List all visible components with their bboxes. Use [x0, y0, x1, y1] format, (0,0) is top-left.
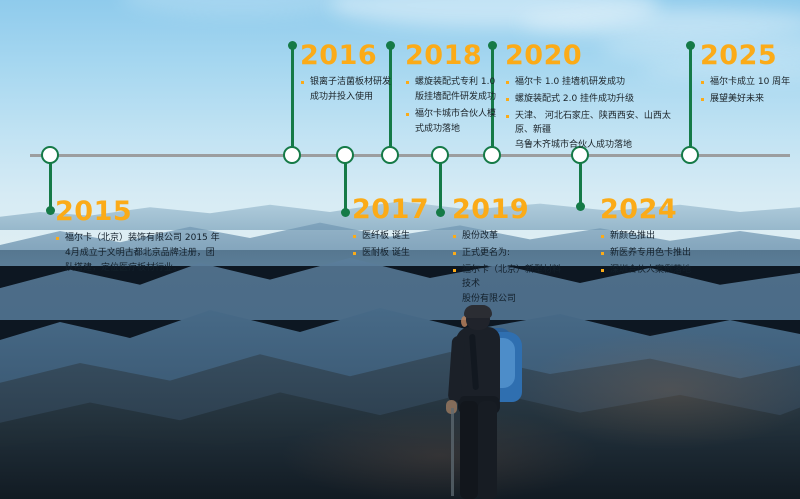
timeline-stem-cap-2016: [288, 41, 297, 50]
timeline-node-2018[interactable]: [381, 146, 399, 164]
timeline-bullet-list-2024: 新颜色推出新医养专用色卡推出深圳合伙人案例落地: [600, 230, 730, 278]
timeline-bullet-list-2020: 福尔卡 1.0 挂墙机研发成功螺旋装配式 2.0 挂件成功升级天津、 河北石家庄…: [505, 76, 685, 153]
timeline-bullet: 新颜色推出: [600, 230, 730, 244]
timeline-entry-2019[interactable]: 2019股份改革正式更名为:福尔卡（北京）新型材料技术股份有限公司: [452, 196, 562, 310]
timeline-bullet-list-2018: 螺旋装配式专利 1.0版挂墙配件研发成功福尔卡城市合伙人模式成功落地: [405, 76, 505, 137]
timeline-stem-cap-2017: [341, 208, 350, 217]
timeline-node-2019[interactable]: [431, 146, 449, 164]
timeline-entry-2025[interactable]: 2025福尔卡成立 10 周年展望美好未来: [700, 42, 800, 110]
timeline-year-label-2019: 2019: [452, 196, 562, 223]
timeline-year-label-2018: 2018: [405, 42, 505, 69]
timeline-stem-cap-2015: [46, 206, 55, 215]
timeline-bullet: 深圳合伙人案例落地: [600, 264, 730, 278]
timeline-stem-2025: [689, 45, 692, 155]
timeline-bullet-list-2019: 股份改革正式更名为:福尔卡（北京）新型材料技术股份有限公司: [452, 230, 562, 307]
timeline-year-label-2015: 2015: [55, 198, 230, 225]
timeline-bullet: 股份有限公司: [452, 293, 562, 307]
timeline-stem-2016: [291, 45, 294, 155]
timeline-bullet: 福尔卡（北京）装饰有限公司 2015 年: [55, 232, 230, 246]
timeline-bullet: 福尔卡城市合伙人模: [405, 108, 505, 122]
timeline-bullet: 天津、 河北石家庄、陕西西安、山西太原、新疆: [505, 110, 685, 138]
timeline-bullet: 版挂墙配件研发成功: [405, 91, 505, 105]
timeline-bullet: 医纤板 诞生: [352, 230, 447, 244]
timeline-year-label-2016: 2016: [300, 42, 405, 69]
cloud: [520, 8, 800, 38]
timeline-node-2020[interactable]: [483, 146, 501, 164]
timeline-bullet: 正式更名为:: [452, 247, 562, 261]
timeline-bullet: 股份改革: [452, 230, 562, 244]
timeline-bullet: 乌鲁木齐城市合伙人成功落地: [505, 139, 685, 153]
infographic-stage: 2015福尔卡（北京）装饰有限公司 2015 年4月成立于文明古都北京品牌注册，…: [0, 0, 800, 499]
timeline-bullet: 式成功落地: [405, 123, 505, 137]
timeline-bullet: 螺旋装配式 2.0 挂件成功升级: [505, 93, 685, 107]
timeline-year-label-2017: 2017: [352, 196, 447, 223]
timeline-bullet: 医耐板 诞生: [352, 247, 447, 261]
timeline-entry-2018[interactable]: 2018螺旋装配式专利 1.0版挂墙配件研发成功福尔卡城市合伙人模式成功落地: [405, 42, 505, 140]
timeline-bullet-list-2025: 福尔卡成立 10 周年展望美好未来: [700, 76, 800, 107]
timeline-bullet-list-2016: 银离子洁菌板材研发成功并投入使用: [300, 76, 405, 105]
timeline-bullet-list-2015: 福尔卡（北京）装饰有限公司 2015 年4月成立于文明古都北京品牌注册，团队搭建…: [55, 232, 230, 276]
timeline-stem-cap-2025: [686, 41, 695, 50]
timeline-bullet: 队搭建，定位医疗板材行业。: [55, 262, 230, 276]
timeline-node-2016[interactable]: [283, 146, 301, 164]
timeline-year-label-2024: 2024: [600, 196, 730, 223]
timeline-year-label-2025: 2025: [700, 42, 800, 69]
timeline-bullet: 新医养专用色卡推出: [600, 247, 730, 261]
timeline-node-2015[interactable]: [41, 146, 59, 164]
timeline-entry-2024[interactable]: 2024新颜色推出新医养专用色卡推出深圳合伙人案例落地: [600, 196, 730, 281]
timeline-node-2017[interactable]: [336, 146, 354, 164]
hiker-silhouette: [438, 308, 558, 499]
timeline-entry-2016[interactable]: 2016银离子洁菌板材研发成功并投入使用: [300, 42, 405, 108]
timeline-entry-2020[interactable]: 2020福尔卡 1.0 挂墙机研发成功螺旋装配式 2.0 挂件成功升级天津、 河…: [505, 42, 685, 156]
timeline-bullet: 4月成立于文明古都北京品牌注册，团: [55, 247, 230, 261]
timeline-bullet: 螺旋装配式专利 1.0: [405, 76, 505, 90]
timeline-bullet: 福尔卡 1.0 挂墙机研发成功: [505, 76, 685, 90]
timeline-entry-2017[interactable]: 2017医纤板 诞生医耐板 诞生: [352, 196, 447, 264]
timeline-bullet: 成功并投入使用: [300, 91, 405, 105]
timeline-year-label-2020: 2020: [505, 42, 685, 69]
timeline-bullet: 银离子洁菌板材研发: [300, 76, 405, 90]
timeline-bullet-list-2017: 医纤板 诞生医耐板 诞生: [352, 230, 447, 261]
timeline-bullet: 展望美好未来: [700, 93, 800, 107]
timeline-entry-2015[interactable]: 2015福尔卡（北京）装饰有限公司 2015 年4月成立于文明古都北京品牌注册，…: [55, 198, 230, 279]
timeline-bullet: 福尔卡（北京）新型材料技术: [452, 264, 562, 292]
timeline-stem-cap-2024: [576, 202, 585, 211]
timeline-bullet: 福尔卡成立 10 周年: [700, 76, 800, 90]
